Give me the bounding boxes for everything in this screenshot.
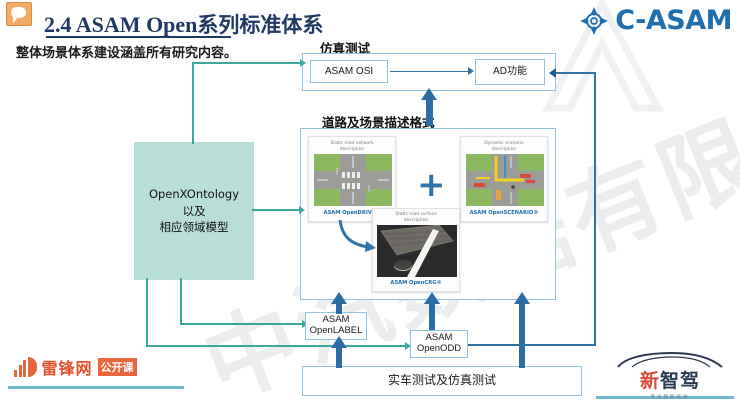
footer-rule-left [8,386,184,389]
arrow-bottom-right-head [514,292,530,304]
thumbnail-opencrg-image [377,225,457,277]
openodd-line-1: ASAM [426,332,453,343]
arrow-label-to-format-head [331,292,347,304]
title-underline [46,36,231,38]
arrow-odd-to-format-shaft [429,302,435,330]
title-chinese: 系列标准体系 [197,13,323,37]
leiphone-logo: 雷锋网 公开课 [14,355,137,379]
title-english: ASAM Open [76,12,198,37]
connector-onto-to-label-horz [180,323,304,325]
thumbnail-opencrg-footer: ASAM OpenCRG® [373,280,459,286]
arrowhead-onto-to-format [299,206,305,214]
thumbnail-openscenario-caption-2: description [461,147,547,153]
connector-onto-up-horz [192,62,302,64]
node-ad-function[interactable]: AD功能 [475,59,545,85]
arrow-format-to-sim-shaft [426,98,433,126]
openlabel-line-2: OpenLABEL [310,325,363,336]
openxontology-line-2: 以及 [183,204,206,218]
connector-onto-to-odd-horz [146,345,408,347]
comment-tail [13,16,17,23]
leiphone-name: 雷锋网 [42,355,93,379]
connector-onto-up-vert [192,62,194,144]
node-openxontology[interactable]: OpenXOntology以及相应领域模型 [134,142,254,280]
thumbnail-opendrive-caption-1: Static road network [309,141,395,147]
page-title: 2.4 ASAM Open系列标准体系 [44,9,323,39]
openlabel-line-1: ASAM [323,314,350,325]
feedback-vert-right [594,72,596,345]
connector-opendrive-to-opencrg [336,218,382,258]
connector-onto-to-format [252,209,302,211]
openxontology-line-1: OpenXOntology [149,187,239,201]
thumbnail-openscenario-footer: ASAM OpenSCENARIO® [461,210,547,216]
xinzhijia-name: 新智驾 [614,366,726,393]
thumbnail-opencrg[interactable]: Static road surface description ASAM Ope… [372,208,460,292]
connector-osi-to-ad [390,71,470,73]
openlabel-text: ASAMOpenLABEL [310,315,363,336]
openxontology-text: OpenXOntology以及相应领域模型 [149,186,239,236]
arrow-bottom-right-shaft [519,302,525,368]
xinzhijia-logo: 新智驾 专注智能驾驶 [614,352,726,400]
openodd-text: ASAMOpenODD [417,333,461,354]
subtitle: 整体场景体系建设涵盖所有研究内容。 [16,42,237,61]
openxontology-line-3: 相应领域模型 [160,220,229,234]
openodd-line-2: OpenODD [417,343,461,354]
arrowhead-feedback-to-ad [549,68,556,78]
arrowhead-onto-to-osi [300,59,306,67]
brand-logo: C-ASAM [579,5,732,36]
arrow-format-to-sim-head [421,88,437,100]
connector-onto-to-odd-vert [146,278,148,346]
feedback-horz-bottom [468,344,596,346]
slide-canvas: 中汽数据有限公司 2.4 ASAM Open系列标准体系 整体场景体系建设涵盖所… [0,0,740,416]
xinzhijia-rest: 智驾 [660,370,700,392]
thumbnail-opencrg-caption-2: description [373,218,459,224]
thumbnail-openscenario-caption-1: Dynamic scenario [461,141,547,147]
node-openodd[interactable]: ASAMOpenODD [410,330,468,358]
node-asam-osi[interactable]: ASAM OSI [310,60,388,83]
node-bottom-test-bar[interactable]: 实车测试及仿真测试 [302,366,582,396]
connector-onto-to-label-vert [180,278,182,324]
thumbnail-opendrive-caption-2: description [309,147,395,153]
arrowhead-osi-to-ad [468,67,474,75]
arrow-odd-to-format-head [424,292,440,304]
brand-name: C-ASAM [615,5,732,36]
plus-symbol: + [417,168,446,202]
arrow-bottom-to-label-head [331,336,347,348]
title-number: 2.4 [44,12,76,37]
leiphone-mark-icon [14,357,37,377]
thumbnail-opendrive-image [314,154,392,206]
feedback-horz-top [555,72,595,74]
arrow-bottom-to-label-shaft [336,346,342,368]
thumbnail-openscenario[interactable]: Dynamic scenario description ASAM OpenSC… [460,136,548,222]
thumbnail-opencrg-caption-1: Static road surface [373,212,459,218]
comment-icon[interactable] [6,2,32,26]
xinzhijia-sub: 专注智能驾驶 [614,394,726,400]
compass-icon [579,6,609,36]
leiphone-tag: 公开课 [98,358,137,376]
thumbnail-openscenario-image [466,154,544,206]
